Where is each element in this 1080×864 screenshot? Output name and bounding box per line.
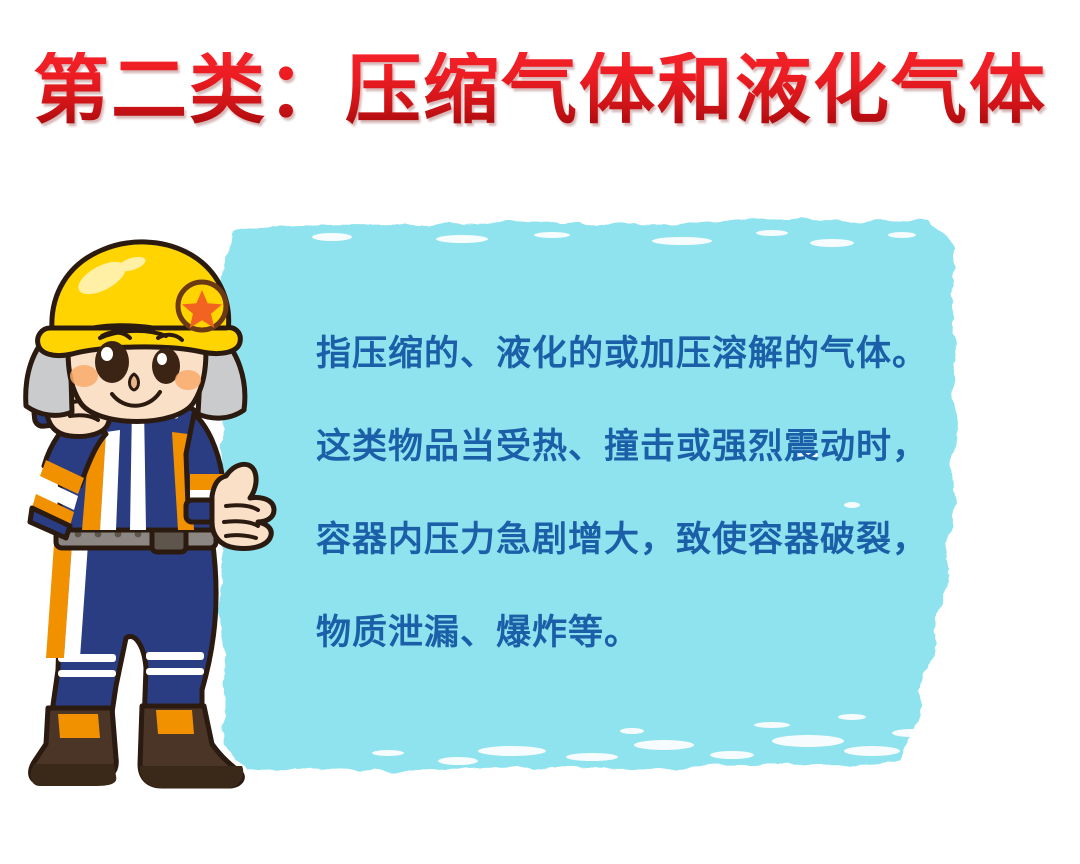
body-line-4: 物质泄漏、爆炸等。 (316, 615, 966, 650)
body-line-2: 这类物品当受热、撞击或强烈震动时， (316, 429, 966, 464)
poster-canvas: 第二类：压缩气体和液化气体 (0, 0, 1080, 864)
body-line-3: 容器内压力急剧增大，致使容器破裂， (316, 522, 966, 557)
page-title: 第二类：压缩气体和液化气体 (0, 52, 1080, 128)
mascot-head (26, 242, 245, 422)
mascot-trousers (46, 538, 216, 726)
firefighter-mascot-illustration (6, 238, 306, 808)
mascot-boots (31, 706, 244, 788)
body-text-block: 指压缩的、液化的或加压溶解的气体。 这类物品当受热、撞击或强烈震动时， 容器内压… (316, 336, 966, 650)
helmet-star-emblem (178, 282, 226, 330)
body-line-1: 指压缩的、液化的或加压溶解的气体。 (316, 336, 966, 371)
